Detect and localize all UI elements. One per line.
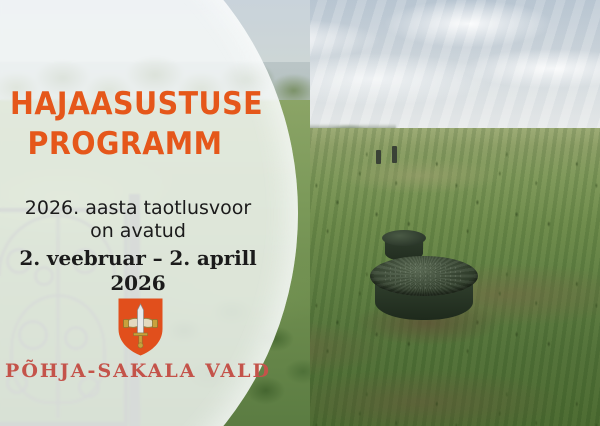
subtitle-block: 2026. aasta taotlusvoor on avatud 2. vee… bbox=[0, 197, 276, 296]
field-post bbox=[376, 150, 381, 164]
field-post bbox=[392, 146, 397, 163]
poster-content: HAJAASUSTUSE PROGRAMM 2026. aasta taotlu… bbox=[0, 0, 278, 426]
septic-tank-large bbox=[370, 256, 478, 328]
poster: HAJAASUSTUSE PROGRAMM 2026. aasta taotlu… bbox=[0, 0, 600, 426]
coat-of-arms-icon bbox=[117, 297, 164, 357]
page-title: HAJAASUSTUSE PROGRAMM bbox=[10, 84, 240, 164]
title-line-2: PROGRAMM bbox=[10, 124, 240, 164]
subtitle-line-1: 2026. aasta taotlusvoor bbox=[0, 197, 276, 220]
application-period-dates: 2. veebruar – 2. aprill 2026 bbox=[0, 246, 276, 296]
municipality-name: PÕHJA-SAKALA VALD bbox=[0, 360, 276, 382]
subtitle-line-2: on avatud bbox=[0, 220, 276, 243]
title-line-1: HAJAASUSTUSE bbox=[10, 84, 240, 124]
